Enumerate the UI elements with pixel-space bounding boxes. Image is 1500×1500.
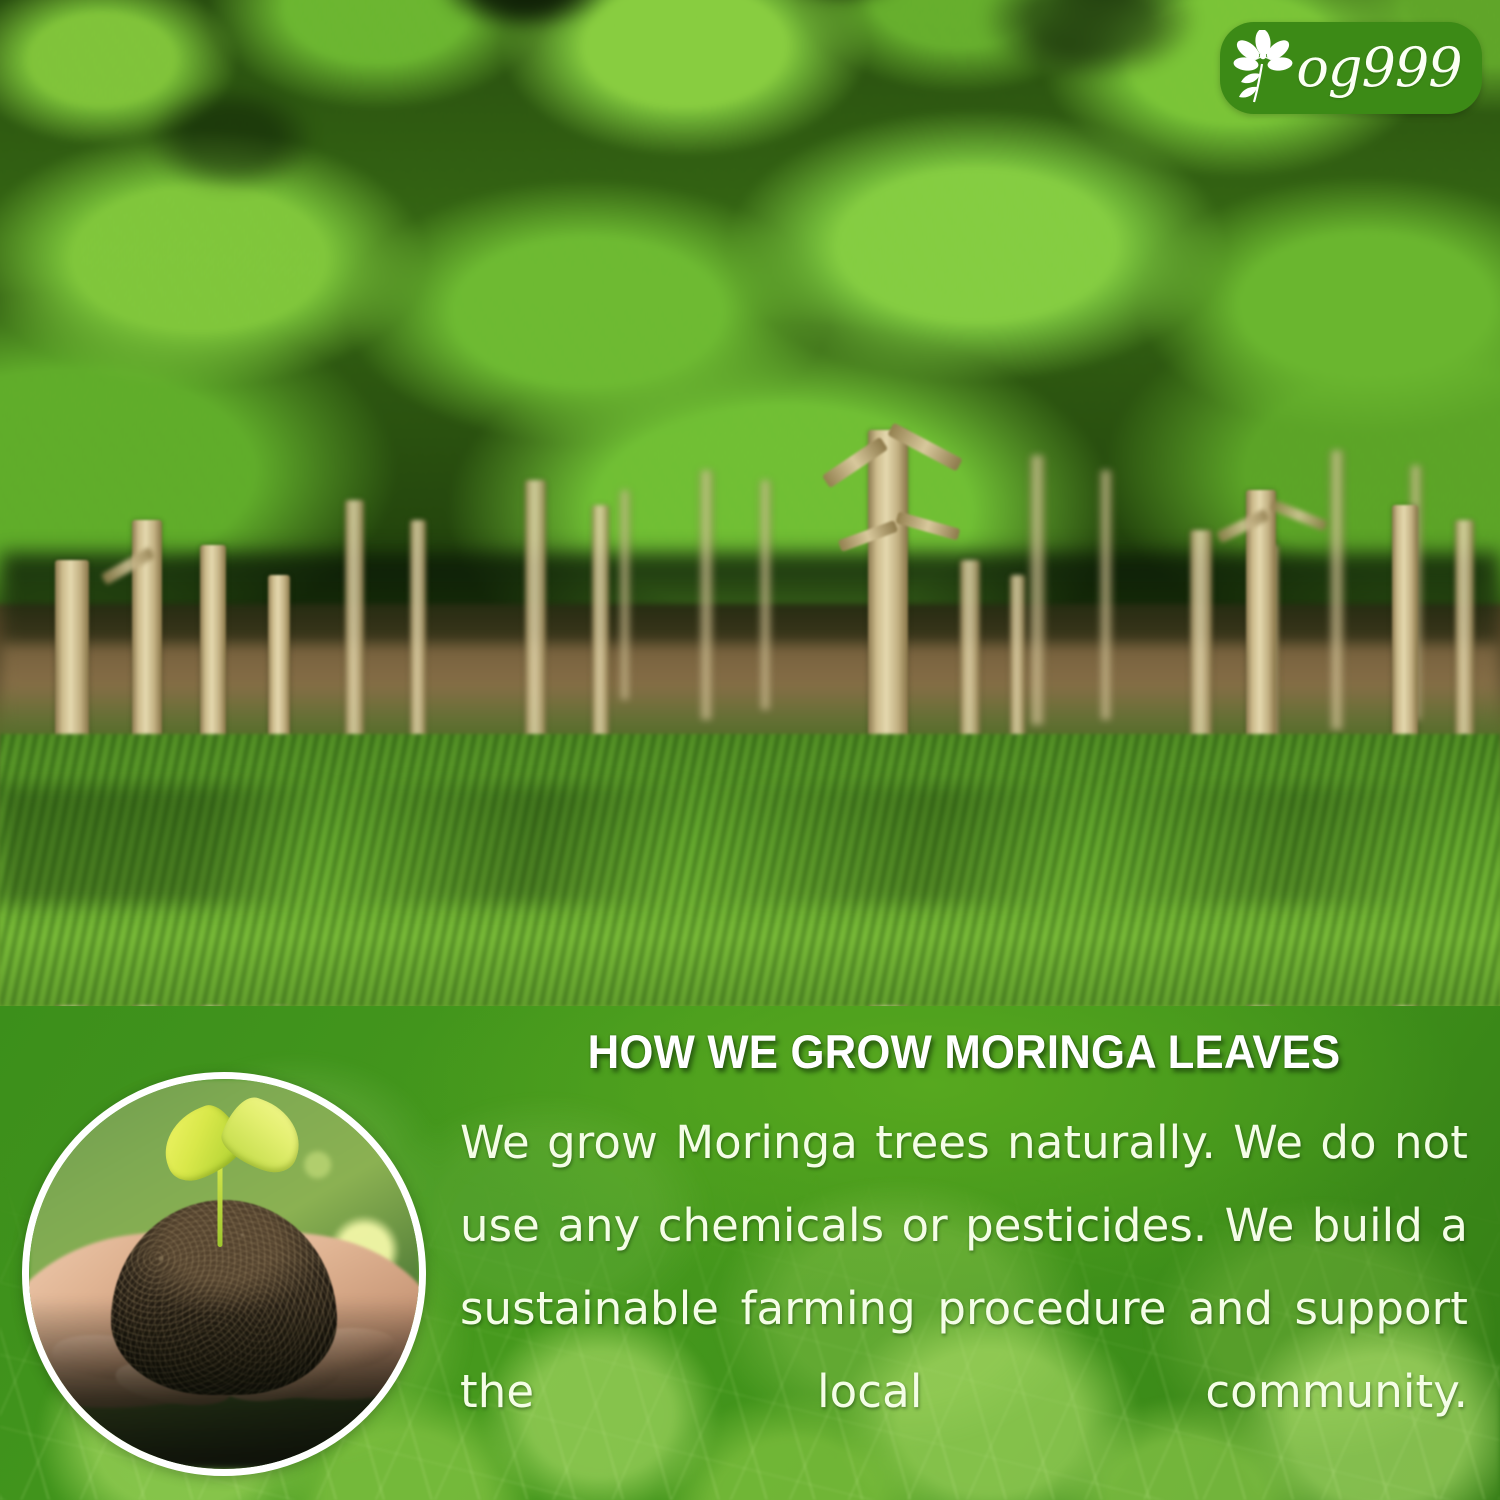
circle-photo-vignette (29, 1297, 419, 1469)
branch (1270, 500, 1328, 532)
seedling-circle-photo (22, 1072, 426, 1476)
moringa-promo-poster: og999 HOW WE GROW MORINGA LEAVES We grow… (0, 0, 1500, 1500)
plantation-hero-photo (0, 0, 1500, 1006)
flower-icon (1232, 30, 1294, 106)
panel-headline: HOW WE GROW MORINGA LEAVES (495, 1028, 1432, 1075)
trunk-far (620, 490, 630, 700)
grass-shadows (0, 785, 1500, 906)
panel-body-text: We grow Moringa trees naturally. We do n… (460, 1101, 1468, 1500)
trunk-far (1100, 470, 1112, 720)
logo-wordmark: og999 (1296, 41, 1461, 95)
trunk-far (1330, 450, 1344, 730)
panel-text-column: HOW WE GROW MORINGA LEAVES We grow Morin… (460, 1028, 1468, 1500)
brand-logo[interactable]: og999 (1220, 22, 1482, 114)
trunk-far (700, 470, 713, 720)
trunk-far (1030, 455, 1045, 725)
trunk-far (760, 480, 771, 710)
